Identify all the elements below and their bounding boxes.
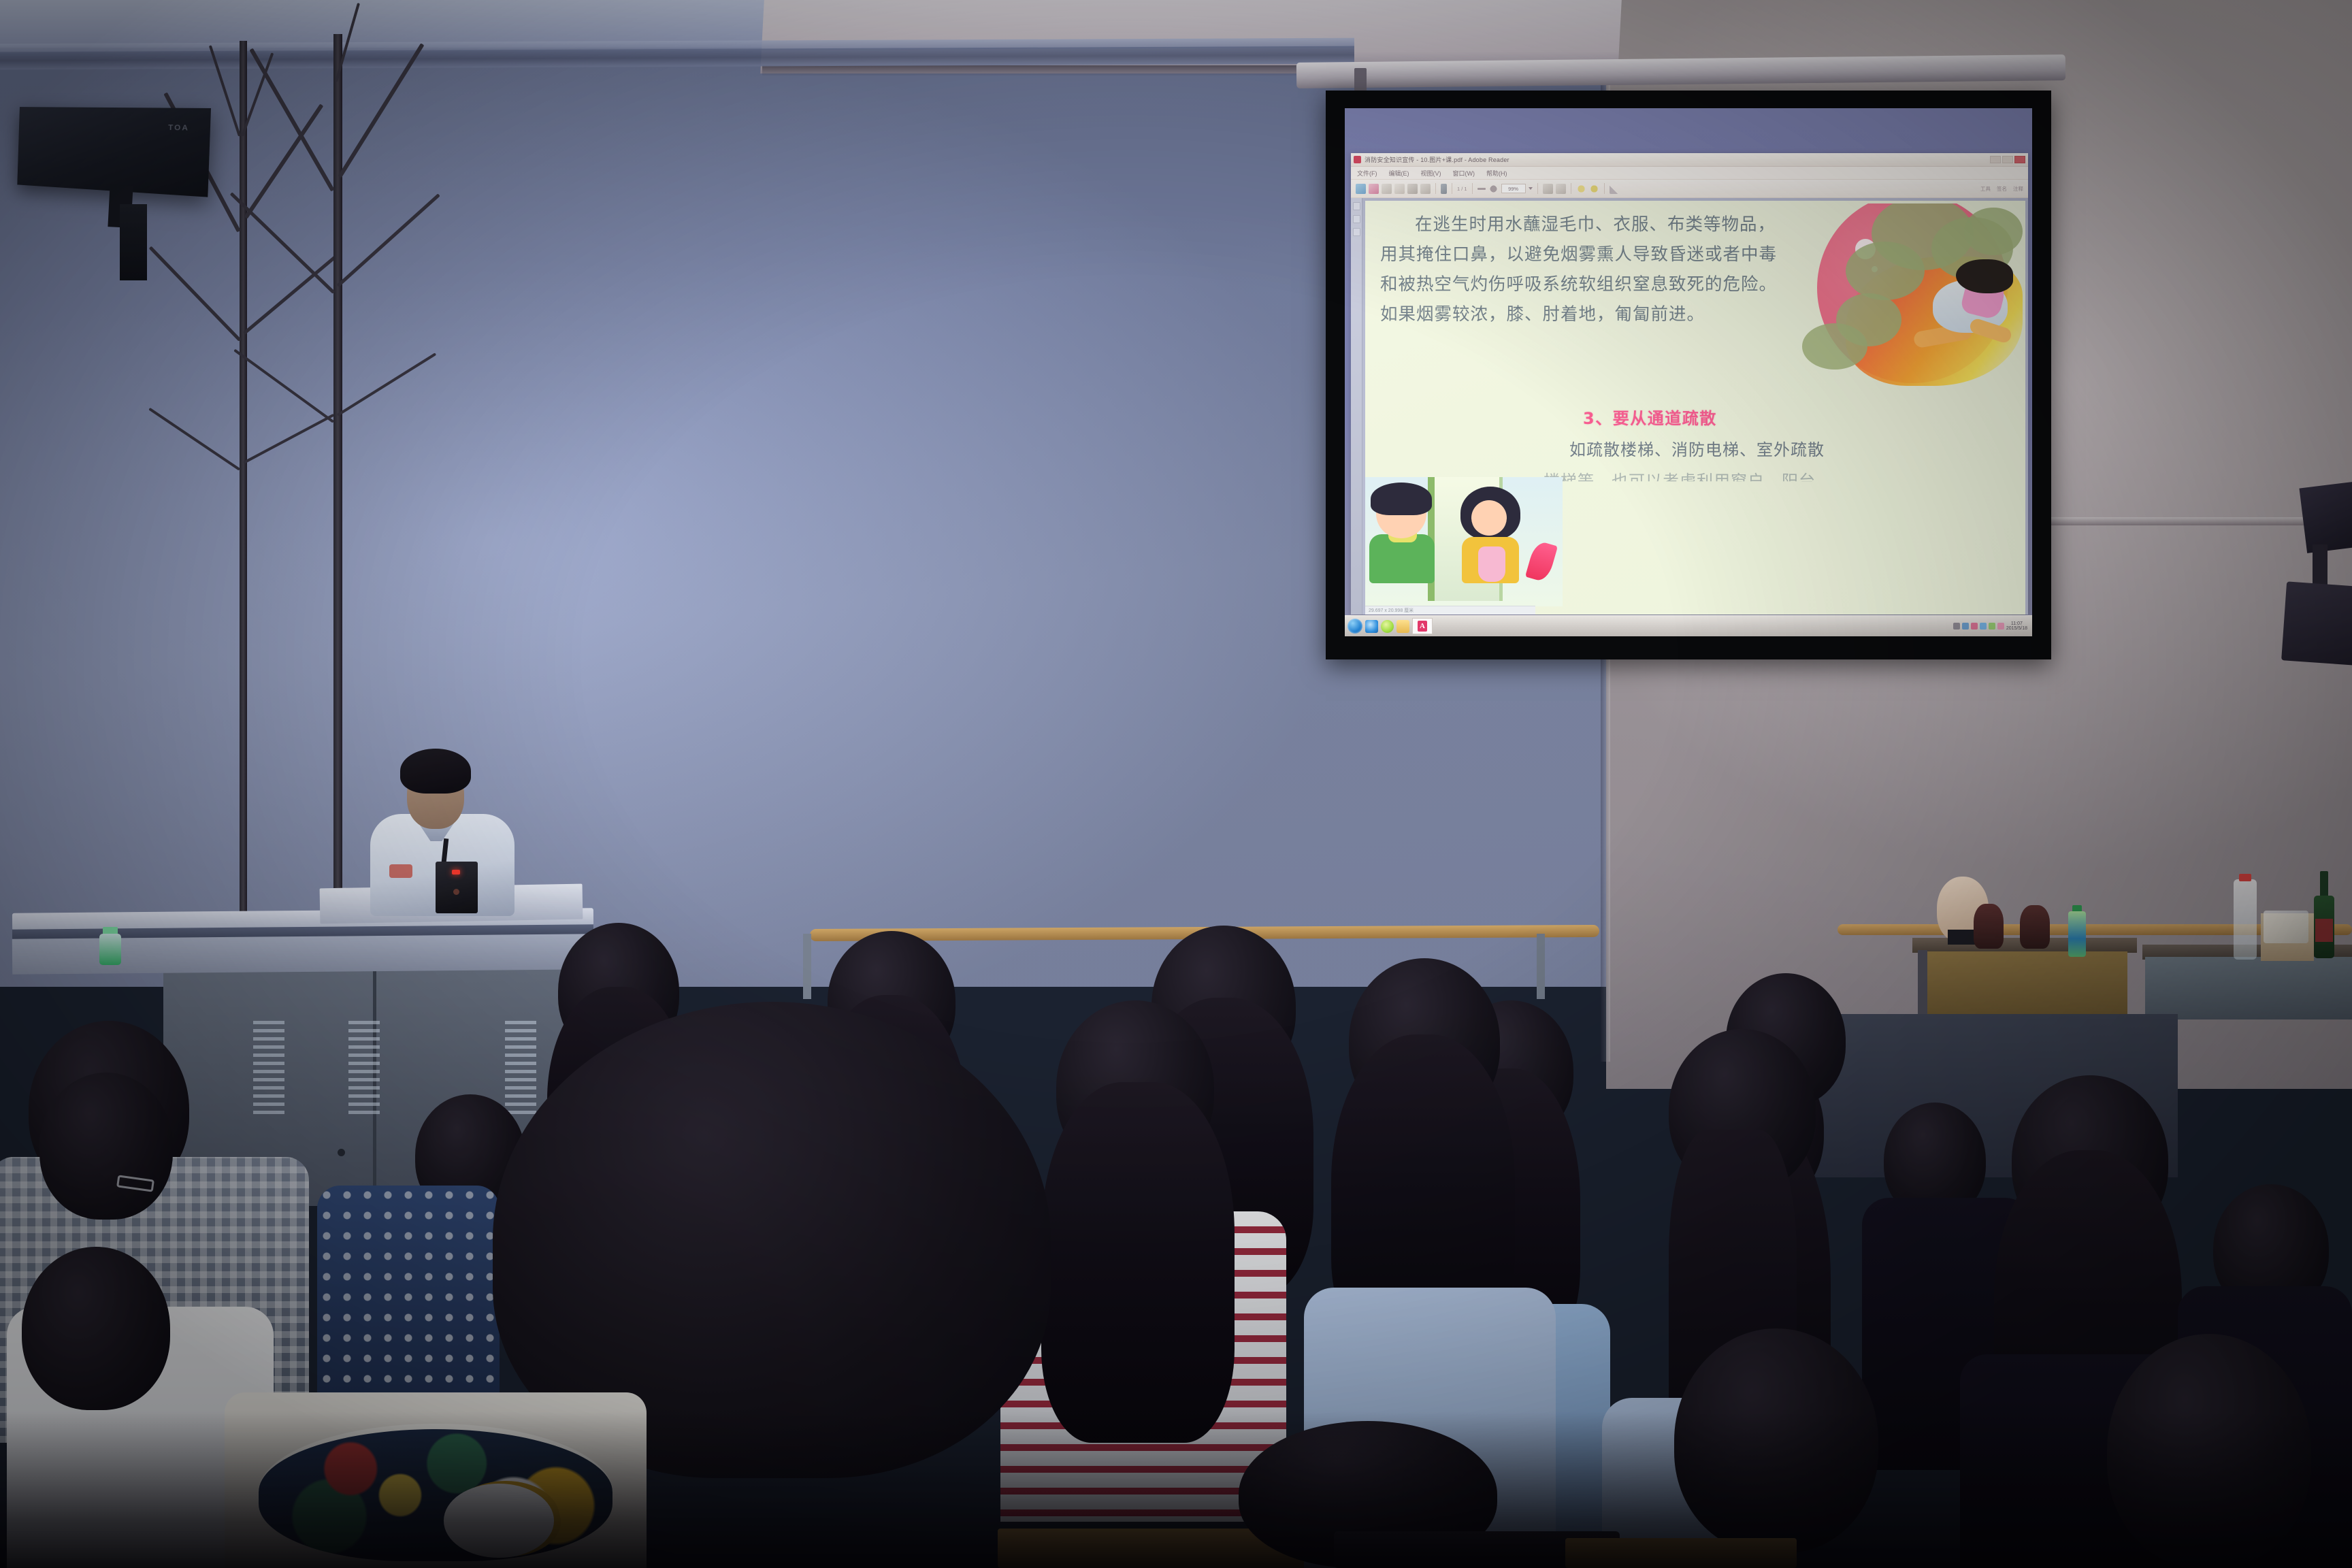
graphic-tee-character-face: [444, 1484, 553, 1557]
create-pdf-icon[interactable]: [1369, 184, 1379, 194]
audience-head: [1674, 1328, 1878, 1553]
smoke-puff-3: [1846, 242, 1925, 300]
comment-pane-button[interactable]: 注释: [2013, 185, 2023, 193]
email-icon[interactable]: [1394, 184, 1405, 194]
antivirus-icon[interactable]: [1971, 623, 1978, 630]
menubar[interactable]: 文件(F) 编辑(E) 视图(V) 窗口(W) 帮助(H): [1351, 167, 2028, 180]
show-desktop-icon[interactable]: [1997, 623, 2004, 630]
pdf-subline-2: 楼梯等，也可以考虑利用窗户、阳台: [1543, 468, 1884, 491]
maximize-button[interactable]: [2002, 156, 2013, 163]
clock-time: 11:07: [2011, 621, 2023, 626]
bookmarks-icon[interactable]: [1353, 215, 1360, 223]
cabinet-vent-left: [253, 1021, 284, 1115]
plastic-water-bottle: [2234, 879, 2257, 960]
select-tool-icon[interactable]: [1441, 184, 1447, 194]
illustration-girl-bib: [1478, 546, 1505, 582]
window-buttons[interactable]: [1990, 156, 2025, 163]
smoke-puff-6: [1964, 208, 2023, 255]
audience-head: [2107, 1334, 2311, 1568]
menu-help[interactable]: 帮助(H): [1486, 169, 1507, 178]
projection-surface: 消防安全知识宣传 - 10.图片+课.pdf - Adobe Reader 文件…: [1345, 108, 2032, 636]
green-browser-icon[interactable]: [1381, 620, 1394, 633]
input-method-icon[interactable]: [1989, 623, 1995, 630]
red-power-led: [452, 870, 460, 875]
gray-side-table-front: [2145, 957, 2352, 1019]
page-size-label: 29.697 x 20.998 厘米: [1369, 607, 1414, 614]
graphic-tee-artwork: [259, 1424, 613, 1561]
zoom-level-field[interactable]: 99%: [1501, 184, 1526, 193]
illustration-child-hair: [1956, 259, 2013, 293]
wall-speaker-left: TOA: [17, 107, 211, 197]
soda-bottle-body: [2068, 911, 2086, 957]
taskbar-clock[interactable]: 11:07 2015/5/18: [2006, 621, 2027, 632]
cabinet-vent-right: [505, 1021, 536, 1115]
green-capped-water-bottle: [97, 927, 124, 965]
adobe-acrobat-icon: [1354, 156, 1361, 163]
clock-date: 2015/5/18: [2006, 626, 2027, 631]
lecture-room-photo: TOA 消防安全知识宣传 - 10.图片+课.pdf - Adobe Reade…: [0, 0, 2352, 1568]
toolbar-separator-6: [1604, 183, 1605, 194]
file-explorer-icon[interactable]: [1396, 620, 1409, 633]
sticky-note-icon[interactable]: [1589, 184, 1599, 194]
window-titlebar[interactable]: 消防安全知识宣传 - 10.图片+课.pdf - Adobe Reader: [1351, 153, 2028, 167]
gift-box-wrapping: [2264, 911, 2308, 943]
cabinet-lock[interactable]: [338, 1149, 345, 1156]
menu-file[interactable]: 文件(F): [1357, 169, 1377, 178]
pdf-section-heading: 3、要从通道疏散: [1583, 405, 1869, 429]
print-icon[interactable]: [1407, 184, 1418, 194]
menu-view[interactable]: 视图(V): [1421, 169, 1441, 178]
green-soda-bottle: [2068, 905, 2087, 957]
portable-amplifier: [436, 862, 478, 913]
adobe-reader-taskbar-button[interactable]: A: [1412, 618, 1433, 634]
ceramic-jar-right: [2020, 905, 2050, 949]
document-area[interactable]: 在逃生时用水蘸湿毛巾、衣服、布类等物品，用其掩住口鼻，以避免烟雾熏人导致昏迷或者…: [1351, 198, 2028, 615]
illustration-girl-face: [1471, 500, 1507, 536]
smoke-puff-5: [1802, 323, 1867, 370]
illustration-boy-hair: [1371, 483, 1432, 515]
sign-pane-button[interactable]: 签名: [1997, 185, 2007, 193]
window-title: 消防安全知识宣传 - 10.图片+课.pdf - Adobe Reader: [1365, 155, 1509, 164]
handrail-post-right: [1537, 934, 1545, 999]
student-desk: [1565, 1538, 1797, 1568]
ime-icon[interactable]: [1980, 623, 1987, 630]
toolbar[interactable]: 1 / 1 99% 工具 签名: [1351, 180, 2028, 198]
pdf-page[interactable]: 在逃生时用水蘸湿毛巾、衣服、布类等物品，用其掩住口鼻，以避免烟雾熏人导致昏迷或者…: [1365, 201, 2025, 615]
toolbar-separator-2: [1452, 183, 1452, 194]
zoom-in-icon[interactable]: [1488, 184, 1499, 194]
menu-edit[interactable]: 编辑(E): [1389, 169, 1409, 178]
audience-hair: [1041, 1082, 1235, 1443]
network-icon[interactable]: [1953, 623, 1960, 630]
cabinet-vent-mid: [348, 1021, 380, 1115]
two-children-escaping-through-door-illustration: [1365, 477, 1563, 606]
fullscreen-icon[interactable]: [1610, 184, 1620, 194]
handrail-post-left: [803, 934, 811, 999]
toolbar-separator-5: [1571, 183, 1571, 194]
chevron-down-icon[interactable]: [1529, 187, 1533, 190]
attachments-icon[interactable]: [1353, 228, 1360, 236]
windows-start-orb[interactable]: [1347, 619, 1362, 634]
highlight-text-icon[interactable]: [1576, 184, 1586, 194]
roller-bracket: [1354, 68, 1367, 91]
page-thumbnails-icon[interactable]: [1353, 202, 1360, 210]
presenter-shirt-logo: [389, 864, 412, 878]
amplifier-knob: [453, 889, 459, 895]
student-graphic-tee: [225, 1392, 647, 1568]
pdf-subline-1: 如疏散楼梯、消防电梯、室外疏散: [1569, 436, 1882, 460]
windows-taskbar[interactable]: A 11:07 2015/5/18: [1345, 615, 2032, 636]
ceramic-jar-left: [1974, 904, 2004, 949]
tools-pane-button[interactable]: 工具: [1980, 185, 1991, 193]
speaker-bracket-left: [120, 204, 147, 280]
adobe-reader-window[interactable]: 消防安全知识宣传 - 10.图片+课.pdf - Adobe Reader 文件…: [1351, 153, 2028, 615]
audience-head: [39, 1073, 173, 1220]
minimize-button[interactable]: [1990, 156, 2001, 163]
water-bottle-cap: [2239, 874, 2251, 881]
navigation-rail[interactable]: [1351, 198, 1362, 615]
internet-explorer-icon[interactable]: [1365, 620, 1378, 633]
presenter-hair: [400, 749, 471, 794]
wine-bottle: [2314, 871, 2334, 958]
toolbar-separator-4: [1537, 183, 1538, 194]
pdf-statusbar: 29.697 x 20.998 厘米: [1365, 606, 1535, 615]
page-indicator[interactable]: 1 / 1: [1457, 186, 1467, 192]
wall-speaker-right-lower: [2281, 581, 2352, 665]
zoom-out-icon[interactable]: [1477, 188, 1486, 190]
menu-window[interactable]: 窗口(W): [1453, 169, 1475, 178]
wine-bottle-label: [2315, 919, 2333, 942]
adobe-acrobat-icon: A: [1418, 621, 1427, 632]
pull-down-projection-screen: 消防安全知识宣传 - 10.图片+课.pdf - Adobe Reader 文件…: [1326, 91, 2051, 659]
wooden-side-table-front: [1923, 951, 2127, 1017]
bottle-body: [99, 934, 121, 965]
speaker-brand-label: TOA: [168, 124, 189, 133]
fit-width-icon[interactable]: [1543, 184, 1553, 194]
toolbar-separator-3: [1472, 183, 1473, 194]
pdf-body-paragraph: 在逃生时用水蘸湿毛巾、衣服、布类等物品，用其掩住口鼻，以避免烟雾熏人导致昏迷或者…: [1380, 210, 1788, 329]
system-tray[interactable]: 11:07 2015/5/18: [1953, 621, 2029, 632]
fit-page-icon[interactable]: [1556, 184, 1566, 194]
toolbar-separator-1: [1435, 183, 1436, 194]
child-crawling-under-smoke-illustration: [1798, 203, 2023, 389]
page-view-icon[interactable]: [1420, 184, 1431, 194]
save-icon[interactable]: [1382, 184, 1392, 194]
wall-speaker-right: [2299, 481, 2352, 553]
toolbar-right-panel[interactable]: 工具 签名 注释: [1980, 185, 2023, 193]
volume-icon[interactable]: [1962, 623, 1969, 630]
audience-head: [22, 1247, 170, 1410]
close-button[interactable]: [2014, 156, 2025, 163]
open-file-icon[interactable]: [1356, 184, 1366, 194]
